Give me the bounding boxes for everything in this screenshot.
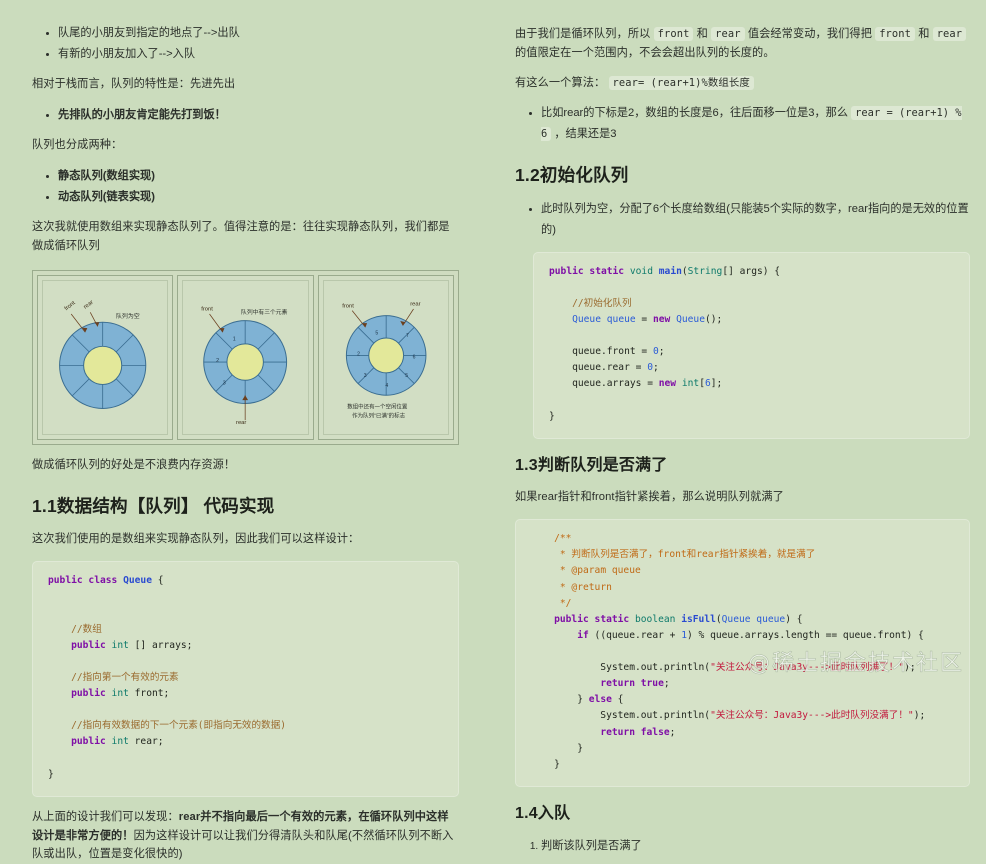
slot-value: 2 [357,351,360,357]
panel-caption-line2: 作为队列“已满”的标志 [352,412,405,420]
slot-value: 7 [406,333,409,339]
front-label: front [202,307,214,313]
circular-queue-figure: front rear 队列为空 [32,270,459,445]
inline-code-rear-2: rear [933,27,966,41]
list-item: 比如rear的下标是2，数组的长度是6，往后面移一位是3，那么 rear = (… [541,103,970,143]
paragraph-design: 这次我们使用的是数组来实现静态队列，因此我们可以这样设计： [32,530,459,549]
heading-1-3: 1.3判断队列是否满了 [515,455,970,477]
empty-queue-svg: front rear 队列为空 [43,281,167,434]
diagram-panel-three-elements: 1 2 3 front rear 队列中有三个元素 [177,275,313,440]
diagram-panel-full-queue: 5 2 3 4 5 6 7 [318,275,454,440]
heading-1-2: 1.2初始化队列 [515,164,970,188]
paragraph-circular-queue: 这次我就使用数组来实现静态队列了。值得注意的是：往往实现静态队列，我们都是做成循… [32,218,459,256]
slot-value: 3 [363,373,366,379]
ordered-list-enqueue: 判断该队列是否满了 [515,836,970,856]
paragraph-conclusion: 从上面的设计我们可以发现：rear并不指向最后一个有效的元素，在循环队列中这样设… [32,808,459,864]
code-content: /** * 判断队列是否满了，front和rear指针紧挨着，就是满了 * @p… [531,531,954,773]
range-text-e: 的值限定在一个范围内，不会会超出队列的长度的。 [515,47,775,59]
list-item: 队尾的小朋友到指定的地点了-->出队 [58,23,459,43]
panel-caption-line1: 数组中还有一个空闲位置 [347,403,408,411]
range-text-d: 和 [915,28,933,40]
donut-three: 1 2 3 [204,321,287,404]
list-item-label: 静态队列(数组实现) [58,170,155,182]
slot-value: 2 [216,358,219,364]
three-elements-svg: 1 2 3 front rear 队列中有三个元素 [183,281,307,434]
left-column: 队尾的小朋友到指定的地点了-->出队 有新的小朋友加入了-->入队 相对于栈而言… [0,0,493,693]
bullet-list-top: 队尾的小朋友到指定的地点了-->出队 有新的小朋友加入了-->入队 [32,23,459,64]
slot-value: 1 [233,337,236,343]
paragraph-fifo: 相对于栈而言，队列的特性是：先进先出 [32,75,459,94]
heading-1-1: 1.1数据结构【队列】 代码实现 [32,495,459,519]
conclusion-part-a: 从上面的设计我们可以发现： [32,811,179,823]
algorithm-label: 有这么一个算法： [515,77,605,89]
rear-label: rear [236,420,246,426]
donut-full: 5 2 3 4 5 6 7 [346,316,426,396]
diagram-panel-inner: front rear 队列为空 [42,280,168,435]
paragraph-range: 由于我们是循环队列，所以 front 和 rear 值会经常变动，我们得把 fr… [515,25,970,63]
inline-code-rear: rear [711,27,744,41]
slot-value: 5 [405,373,408,379]
article-page: 队尾的小朋友到指定的地点了-->出队 有新的小朋友加入了-->入队 相对于栈而言… [0,0,986,693]
rear-label: rear [410,302,420,308]
front-label: front [64,300,77,312]
list-item: 判断该队列是否满了 [541,836,970,856]
example-text-b: ，结果还是3 [551,128,616,140]
paragraph-two-kinds: 队列也分成两种： [32,136,459,155]
range-text-c: 值会经常变动，我们得把 [745,28,876,40]
slot-value: 5 [375,331,378,337]
slot-value: 3 [223,380,226,386]
heading-1-4: 1.4入队 [515,803,970,825]
bullet-list-example: 比如rear的下标是2，数组的长度是6，往后面移一位是3，那么 rear = (… [515,103,970,143]
list-item: 此时队列为空，分配了6个长度给数组(只能装5个实际的数字，rear指向的是无效的… [541,199,970,239]
code-block-init-queue: public static void main(String[] args) {… [533,252,970,439]
paragraph-algorithm: 有这么一个算法： rear= (rear+1)%数组长度 [515,74,970,93]
code-content: public class Queue { //数组 public int [] … [48,573,443,782]
diagram-panel-inner: 1 2 3 front rear 队列中有三个元素 [182,280,308,435]
front-label: front [342,303,354,309]
rear-label: rear [83,300,95,311]
diagram-panel-empty-queue: front rear 队列为空 [37,275,173,440]
list-item-label: 动态队列(链表实现) [58,191,155,203]
list-item: 有新的小朋友加入了-->入队 [58,44,459,64]
slot-value: 6 [412,355,415,361]
list-item: 动态队列(链表实现) [58,187,459,207]
panel-caption: 队列中有三个元素 [241,308,288,316]
inline-code-algorithm: rear= (rear+1)%数组长度 [609,76,754,90]
right-column: 由于我们是循环队列，所以 front 和 rear 值会经常变动，我们得把 fr… [493,0,986,693]
range-text-b: 和 [693,28,711,40]
paragraph-benefit: 做成循环队列的好处是不浪费内存资源！ [32,456,459,475]
range-text-a: 由于我们是循环队列，所以 [515,28,654,40]
example-text-a: 比如rear的下标是2，数组的长度是6，往后面移一位是3，那么 [541,107,851,119]
slot-value: 4 [385,383,388,389]
donut-empty [60,322,146,408]
inline-code-front-2: front [875,27,915,41]
full-queue-svg: 5 2 3 4 5 6 7 [324,281,448,434]
code-block-is-full: /** * 判断队列是否满了，front和rear指针紧挨着，就是满了 * @p… [515,519,970,787]
list-item: 静态队列(数组实现) [58,166,459,186]
list-item: 先排队的小朋友肯定能先打到饭！ [58,105,459,125]
diagram-panel-inner: 5 2 3 4 5 6 7 [323,280,449,435]
code-block-queue-class: public class Queue { //数组 public int [] … [32,561,459,796]
inline-code-front: front [654,27,694,41]
list-item-label: 先排队的小朋友肯定能先打到饭！ [58,109,226,121]
code-content: public static void main(String[] args) {… [549,264,954,425]
bullet-list-init: 此时队列为空，分配了6个长度给数组(只能装5个实际的数字，rear指向的是无效的… [515,199,970,239]
bullet-list-kinds: 静态队列(数组实现) 动态队列(链表实现) [32,166,459,207]
bullet-list-fifo: 先排队的小朋友肯定能先打到饭！ [32,105,459,125]
paragraph-is-full: 如果rear指针和front指针紧挨着，那么说明队列就满了 [515,488,970,507]
panel-caption: 队列为空 [116,312,140,320]
